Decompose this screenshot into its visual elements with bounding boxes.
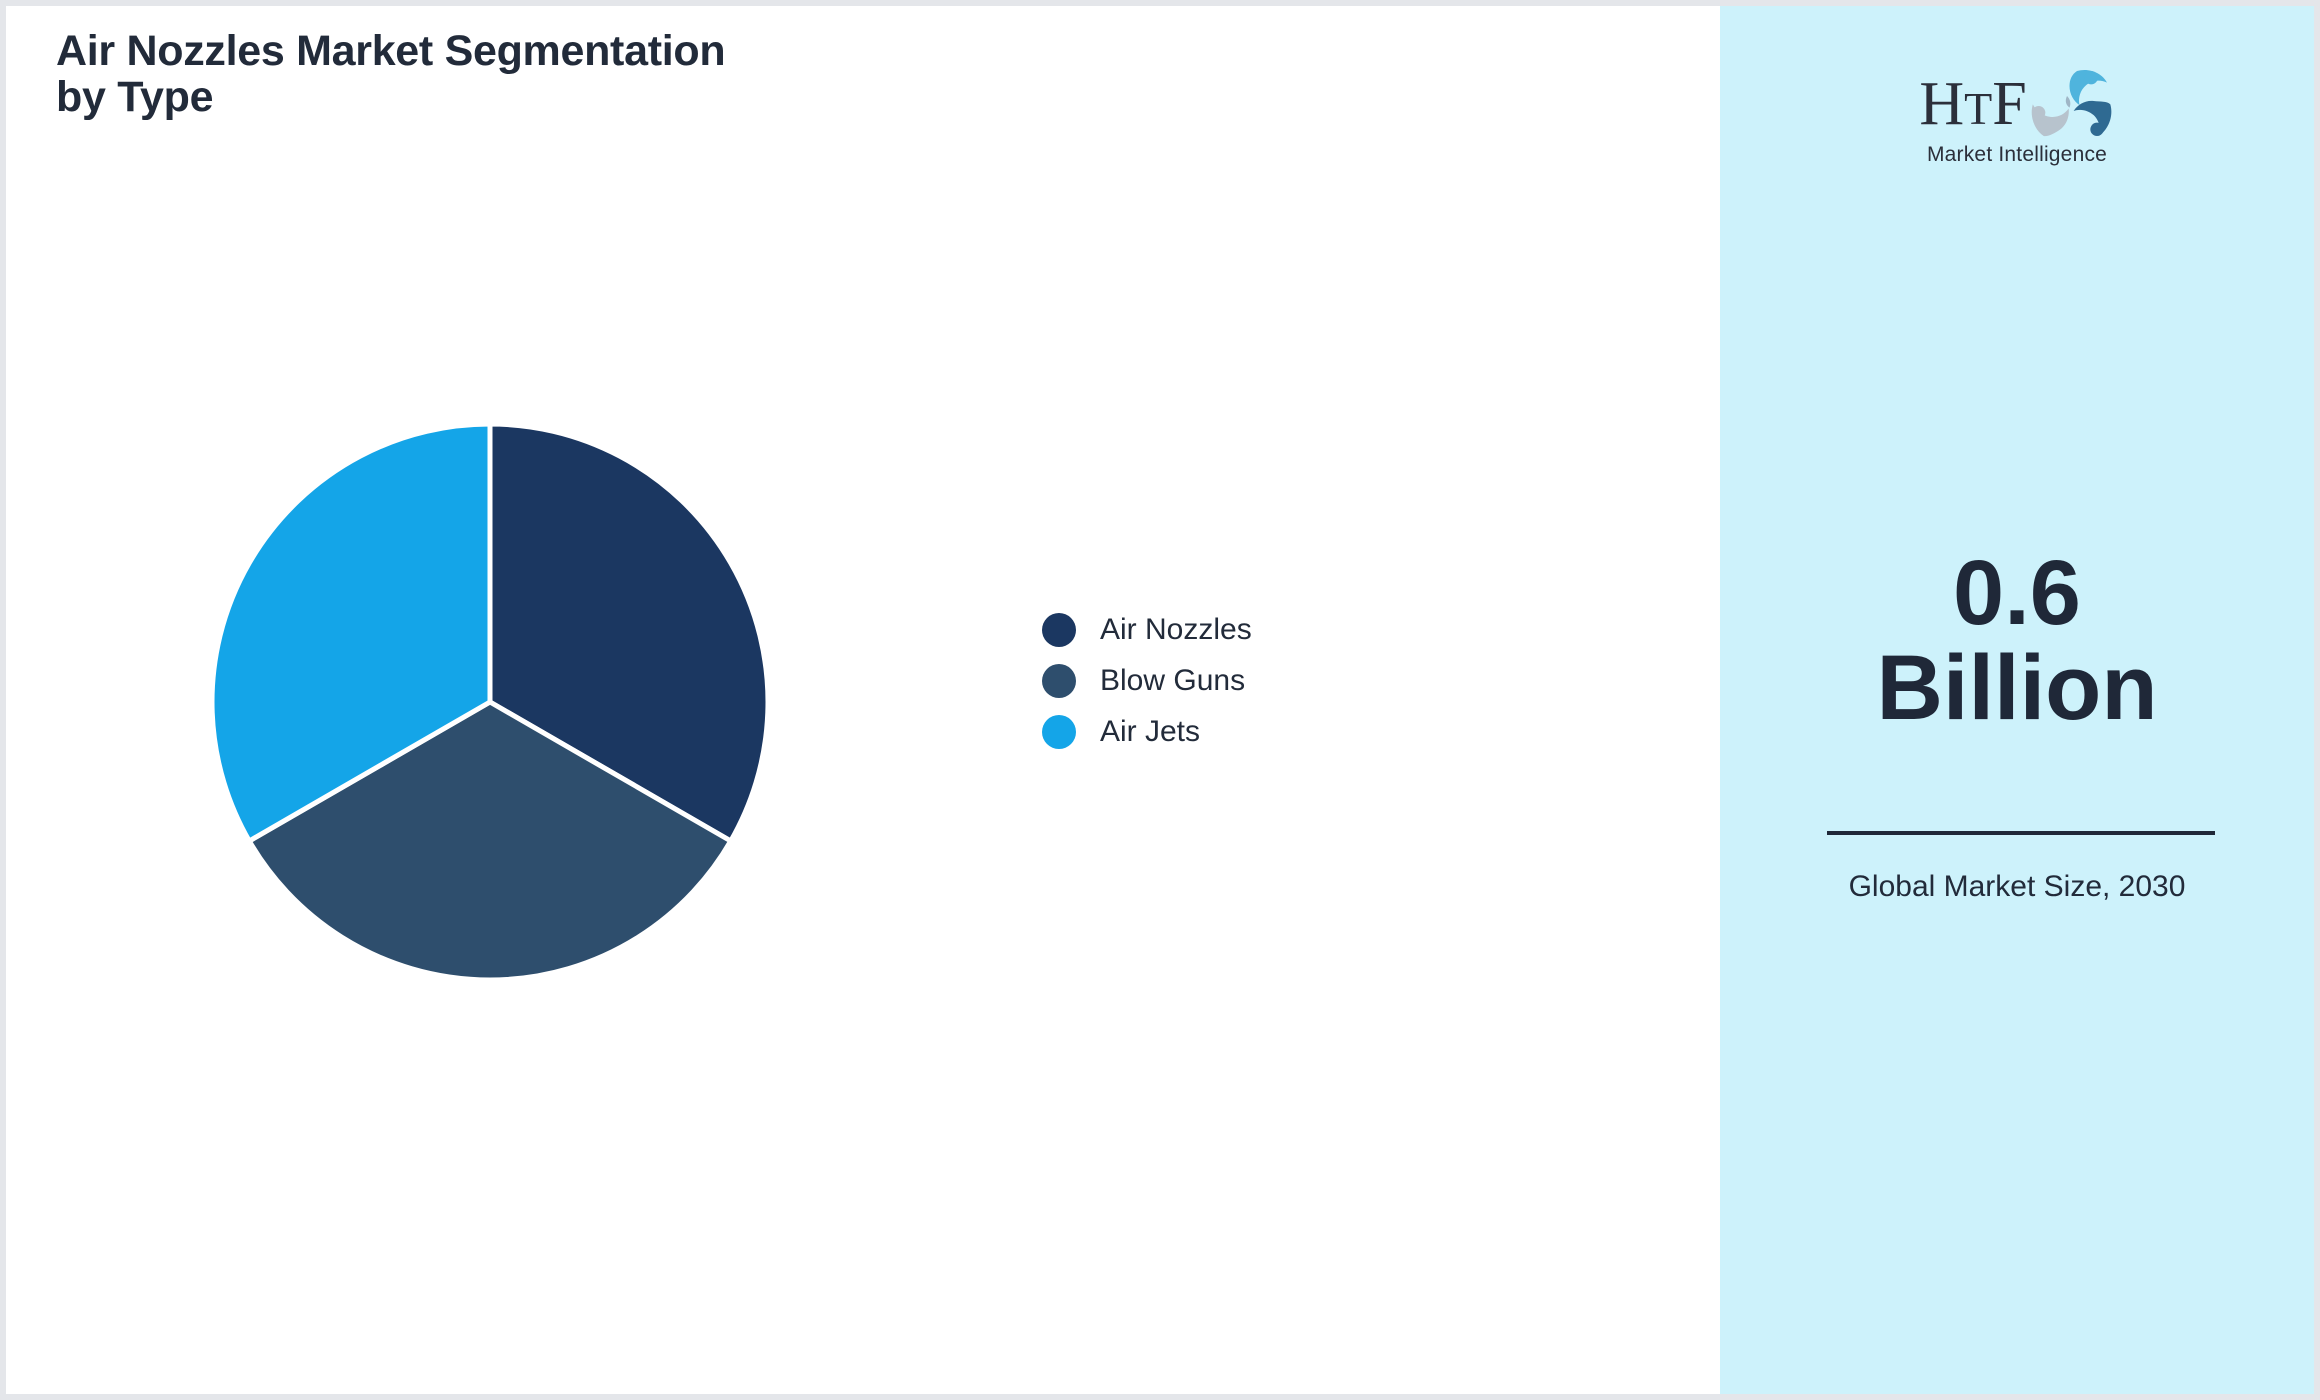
stat-panel: HTF (1720, 6, 2314, 1394)
chart-legend: Air Nozzles Blow Guns Air Jets (1042, 604, 1462, 757)
market-size-caption: Global Market Size, 2030 (1780, 868, 2254, 906)
page-title: Air Nozzles Market Segmentation by Type (56, 28, 1056, 121)
brand-logo: HTF (1720, 64, 2314, 176)
chart-panel: Air Nozzles Market Segmentation by Type … (6, 6, 1720, 1394)
htf-swirl-logo-icon (2029, 66, 2115, 146)
divider (1827, 831, 2215, 835)
legend-item-blow-guns[interactable]: Blow Guns (1042, 655, 1462, 706)
brand-wordmark: HTF (1919, 73, 2026, 140)
legend-item-label: Blow Guns (1100, 664, 1245, 698)
infographic-canvas: Air Nozzles Market Segmentation by Type … (0, 0, 2320, 1400)
legend-item-air-jets[interactable]: Air Jets (1042, 706, 1462, 757)
brand-logo-mark: HTF (1919, 64, 2114, 140)
brand-letter-t: T (1964, 83, 1992, 134)
market-size-value: 0.6 Billion (1750, 546, 2284, 736)
legend-dot-icon (1042, 613, 1076, 647)
brand-letter-f: F (1992, 70, 2026, 138)
legend-item-air-nozzles[interactable]: Air Nozzles (1042, 604, 1462, 655)
pie-chart-svg (207, 419, 773, 985)
legend-item-label: Air Nozzles (1100, 613, 1252, 647)
brand-letter-h: H (1919, 70, 1964, 138)
pie-chart (207, 419, 773, 985)
brand-tagline: Market Intelligence (1927, 143, 2107, 167)
legend-dot-icon (1042, 715, 1076, 749)
legend-item-label: Air Jets (1100, 715, 1200, 749)
legend-dot-icon (1042, 664, 1076, 698)
